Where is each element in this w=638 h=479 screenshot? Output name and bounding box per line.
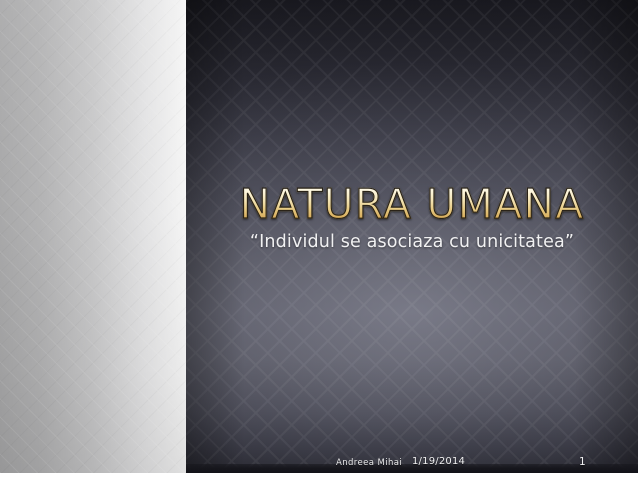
presentation-slide: NATURA UMANA “Individul se asociaza cu u…: [0, 0, 638, 479]
footer-author: Andreea Mihai: [336, 458, 402, 468]
slide-footer: Andreea Mihai 1/19/2014 1: [186, 455, 638, 479]
slide-title: NATURA UMANA: [186, 184, 638, 225]
footer-date: 1/19/2014: [412, 456, 465, 467]
left-panel-texture: [0, 0, 186, 473]
left-gradient-panel: [0, 0, 186, 473]
slide-subtitle: “Individul se asociaza cu unicitatea”: [186, 232, 638, 252]
title-block: NATURA UMANA “Individul se asociaza cu u…: [186, 184, 638, 252]
footer-page-number: 1: [579, 456, 586, 468]
